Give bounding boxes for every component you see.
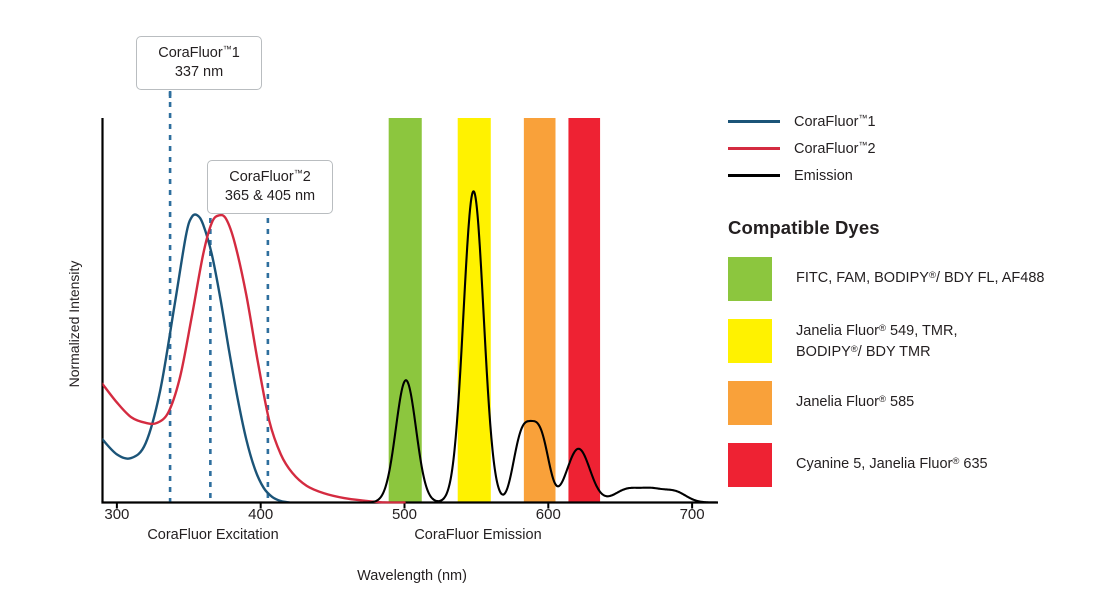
trademark-symbol: ™: [223, 44, 232, 54]
dye-label: Cyanine 5, Janelia Fluor® 635: [796, 443, 988, 475]
x-tick-label-300: 300: [104, 506, 129, 523]
series-legend: CoraFluor™1CoraFluor™2Emission: [728, 108, 1100, 189]
curve-corafluor1: [103, 215, 290, 503]
x-tick-label-600: 600: [536, 506, 561, 523]
registered-symbol: ®: [929, 270, 936, 281]
orange-band: [524, 118, 556, 503]
red-band: [568, 118, 600, 503]
curve-corafluor2: [103, 215, 405, 503]
dye-color-swatch: [728, 257, 772, 301]
dye-label-line: FITC, FAM, BODIPY®/ BDY FL, AF488: [796, 268, 1044, 289]
callout-corafluor2-title: CoraFluor™2: [218, 168, 322, 187]
dye-label-line: Cyanine 5, Janelia Fluor® 635: [796, 454, 988, 475]
x-axis-title: Wavelength (nm): [357, 568, 467, 584]
registered-symbol: ®: [851, 344, 858, 355]
dye-label: FITC, FAM, BODIPY®/ BDY FL, AF488: [796, 257, 1044, 289]
dye-color-swatch: [728, 381, 772, 425]
legend-row-emission: Emission: [728, 162, 1100, 189]
dye-row: Janelia Fluor® 549, TMR,BODIPY®/ BDY TMR: [728, 319, 1100, 363]
callout-corafluor2: CoraFluor™2 365 & 405 nm: [207, 160, 333, 214]
callout-corafluor1-value: 337 nm: [147, 63, 251, 82]
legend-line-label: Emission: [794, 168, 853, 184]
compatible-dyes-list: FITC, FAM, BODIPY®/ BDY FL, AF488Janelia…: [728, 257, 1100, 487]
dye-label-line: Janelia Fluor® 549, TMR,: [796, 321, 957, 342]
dye-color-swatch: [728, 443, 772, 487]
dye-label: Janelia Fluor® 585: [796, 381, 914, 413]
x-tick-label-500: 500: [392, 506, 417, 523]
emission-bands-group: [389, 118, 600, 503]
legend-line-swatch: [728, 147, 780, 150]
callout-corafluor1: CoraFluor™1 337 nm: [136, 36, 262, 90]
registered-symbol: ®: [952, 456, 959, 467]
callout-corafluor2-value: 365 & 405 nm: [218, 187, 322, 206]
legend-line-swatch: [728, 120, 780, 123]
dye-color-swatch: [728, 319, 772, 363]
x-tick-label-700: 700: [680, 506, 705, 523]
dye-row: Cyanine 5, Janelia Fluor® 635: [728, 443, 1100, 487]
fluorescence-spectra-figure: CoraFluor™1 337 nm CoraFluor™2 365 & 405…: [0, 0, 1110, 612]
dye-label-line: Janelia Fluor® 585: [796, 392, 914, 413]
legend-row-corafluor1: CoraFluor™1: [728, 108, 1100, 135]
trademark-symbol: ™: [294, 168, 303, 178]
legend-row-corafluor2: CoraFluor™2: [728, 135, 1100, 162]
registered-symbol: ®: [879, 394, 886, 405]
compatible-dyes-heading: Compatible Dyes: [728, 217, 1100, 239]
dye-row: FITC, FAM, BODIPY®/ BDY FL, AF488: [728, 257, 1100, 301]
dye-label: Janelia Fluor® 549, TMR,BODIPY®/ BDY TMR: [796, 319, 957, 362]
x-tick-label-400: 400: [248, 506, 273, 523]
legend-line-label: CoraFluor™1: [794, 113, 876, 130]
emission-region-label: CoraFluor Emission: [414, 527, 541, 543]
excitation-region-label: CoraFluor Excitation: [147, 527, 278, 543]
callout-corafluor1-title: CoraFluor™1: [147, 44, 251, 63]
legend-line-swatch: [728, 174, 780, 177]
dye-label-line: BODIPY®/ BDY TMR: [796, 342, 957, 363]
registered-symbol: ®: [879, 323, 886, 334]
legend-line-label: CoraFluor™2: [794, 140, 876, 157]
legend-panel: CoraFluor™1CoraFluor™2Emission Compatibl…: [728, 108, 1100, 487]
y-axis-title: Normalized Intensity: [66, 244, 82, 404]
dye-row: Janelia Fluor® 585: [728, 381, 1100, 425]
